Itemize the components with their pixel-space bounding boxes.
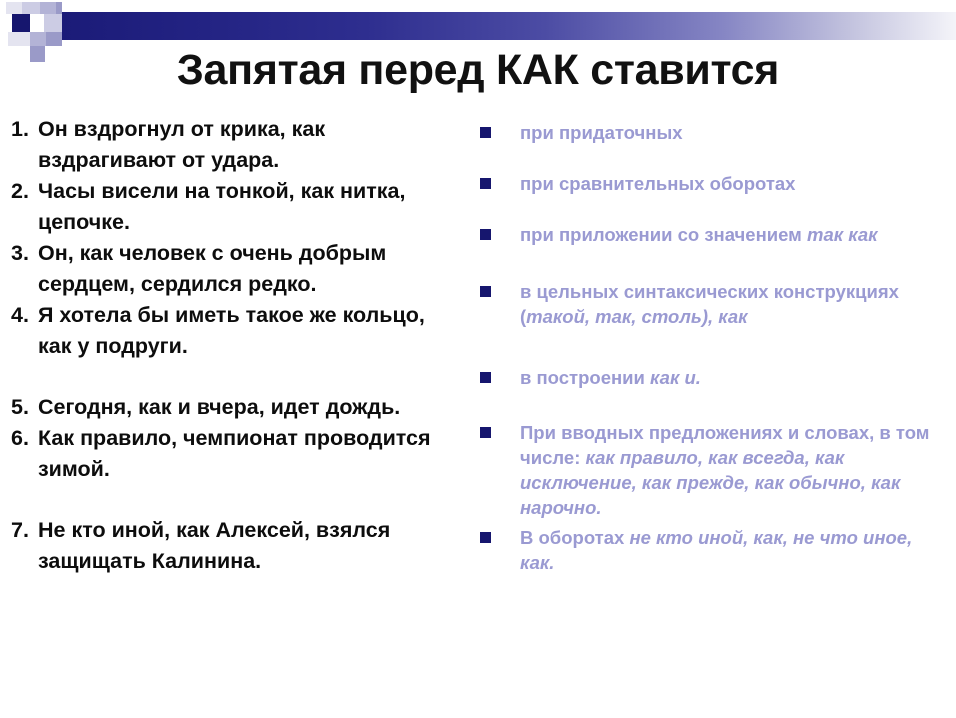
list-item-number: 4. bbox=[11, 300, 37, 331]
decor-square-lav-1 bbox=[40, 2, 56, 14]
square-bullet-icon bbox=[480, 532, 491, 543]
slide-body: 1. Он вздрогнул от крика, как вздрагиваю… bbox=[0, 114, 956, 718]
list-item-number: 2. bbox=[11, 176, 37, 207]
rules-list: при придаточных при сравнительных оборот… bbox=[466, 120, 950, 575]
list-item-text: Он, как человек с очень добрым сердцем, … bbox=[38, 241, 386, 296]
square-bullet-icon bbox=[480, 427, 491, 438]
bullet-list-item: в построении как и. bbox=[466, 365, 950, 390]
page-title: Запятая перед КАК ставится bbox=[0, 46, 956, 95]
gradient-bar bbox=[62, 12, 956, 40]
list-item-number: 6. bbox=[11, 423, 37, 454]
square-bullet-icon bbox=[480, 127, 491, 138]
examples-list: 1. Он вздрогнул от крика, как вздрагиваю… bbox=[8, 114, 456, 577]
bullet-text: в построении bbox=[520, 367, 650, 388]
decor-square-lav-2 bbox=[30, 32, 46, 46]
header-decoration: Запятая перед КАК ставится bbox=[0, 0, 956, 108]
list-item: 6. Как правило, чемпионат проводится зим… bbox=[8, 423, 456, 485]
bullet-text: при приложении со значением bbox=[520, 224, 807, 245]
bullet-list-item: при сравнительных оборотах bbox=[466, 171, 950, 196]
list-item: 5. Сегодня, как и вчера, идет дождь. bbox=[8, 392, 456, 423]
list-item-number: 7. bbox=[11, 515, 37, 546]
list-item-number: 5. bbox=[11, 392, 37, 423]
decor-square-navy bbox=[12, 14, 30, 32]
list-item: 2. Часы висели на тонкой, как нитка, цеп… bbox=[8, 176, 456, 238]
bullet-list-item: При вводных предложениях и словах, в том… bbox=[466, 420, 950, 520]
list-item-number: 1. bbox=[11, 114, 37, 145]
list-item-text: Он вздрогнул от крика, как вздрагивают о… bbox=[38, 117, 325, 172]
decor-square-pale-2 bbox=[8, 32, 30, 46]
list-item: 7. Не кто иной, как Алексей, взялся защи… bbox=[8, 515, 456, 577]
list-item: 1. Он вздрогнул от крика, как вздрагиваю… bbox=[8, 114, 456, 176]
square-bullet-icon bbox=[480, 178, 491, 189]
bullet-text: при придаточных bbox=[520, 122, 683, 143]
decor-square-light-2 bbox=[44, 14, 62, 32]
list-item: 3. Он, как человек с очень добрым сердце… bbox=[8, 238, 456, 300]
decor-square-dark-2 bbox=[46, 32, 62, 46]
list-item-text: Не кто иной, как Алексей, взялся защищат… bbox=[38, 518, 390, 573]
list-item: 4. Я хотела бы иметь такое же кольцо, ка… bbox=[8, 300, 456, 362]
bullet-list-item: в цельных синтаксических конструкциях (т… bbox=[466, 279, 950, 329]
decor-square-pale-1 bbox=[6, 2, 22, 14]
bullet-text: В оборотах bbox=[520, 527, 629, 548]
list-item-text: Сегодня, как и вчера, идет дождь. bbox=[38, 395, 400, 419]
bullet-list-item: при придаточных bbox=[466, 120, 950, 145]
list-item-text: Я хотела бы иметь такое же кольцо, как у… bbox=[38, 303, 425, 358]
square-bullet-icon bbox=[480, 286, 491, 297]
bullet-list-item: В оборотах не кто иной, как, не что иное… bbox=[466, 525, 950, 575]
bullet-text-italic: такой, так, столь), как bbox=[526, 306, 747, 327]
list-item-text: Часы висели на тонкой, как нитка, цепочк… bbox=[38, 179, 405, 234]
bullet-list-item: при приложении со значением так как bbox=[466, 222, 950, 247]
decor-square-light-1 bbox=[22, 2, 40, 14]
bullet-text: при сравнительных оборотах bbox=[520, 173, 795, 194]
list-item-text: Как правило, чемпионат проводится зимой. bbox=[38, 426, 431, 481]
list-item-number: 3. bbox=[11, 238, 37, 269]
bullet-text-italic: как и. bbox=[650, 367, 701, 388]
square-bullet-icon bbox=[480, 372, 491, 383]
square-bullet-icon bbox=[480, 229, 491, 240]
bullet-text-italic: так как bbox=[807, 224, 878, 245]
